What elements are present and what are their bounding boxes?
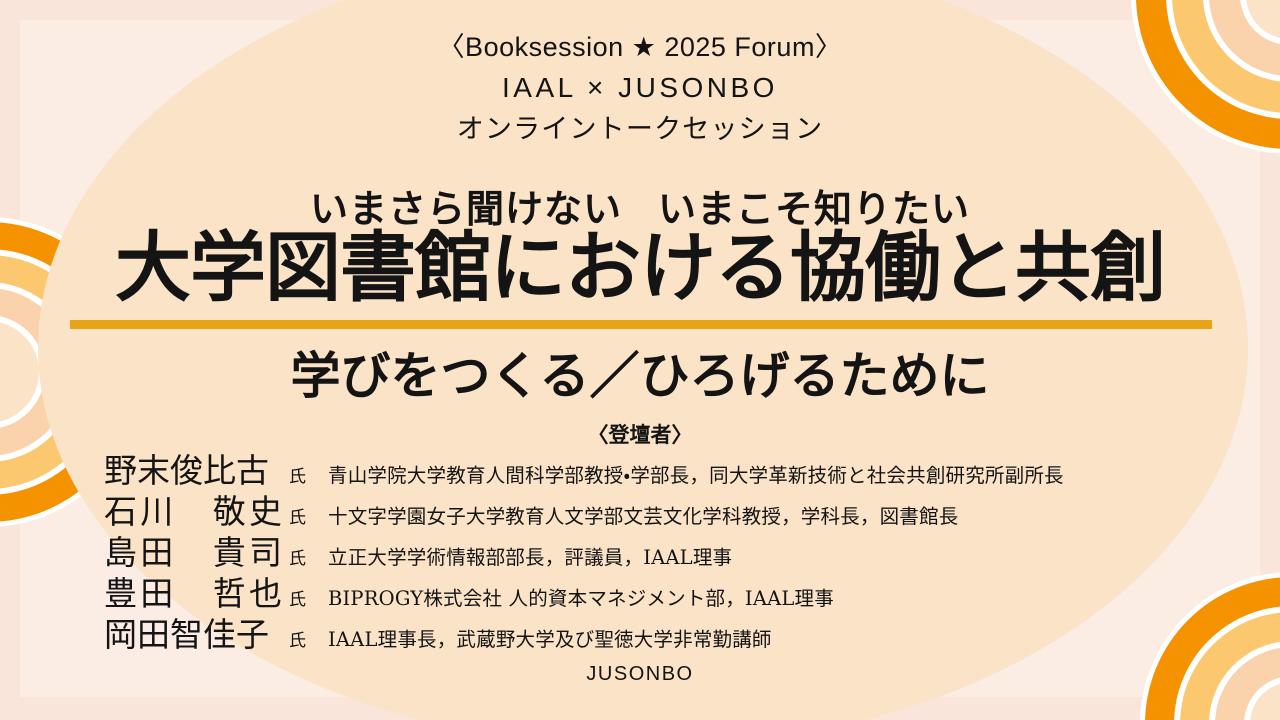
speakers-list: 野末俊比古 氏 青山学院大学教育人間科学部教授・学部長，同大学革新技術と社会共創… xyxy=(0,444,1280,649)
organizers-title: IAAL × JUSONBO xyxy=(0,67,1280,109)
speaker-affiliation: 立正大学学術情報部部長，評議員，IAAL理事 xyxy=(313,541,732,570)
slide-content: 〈Booksession ★ 2025 Forum〉 IAAL × JUSONB… xyxy=(0,0,1280,720)
footer-brand: JUSONBO xyxy=(0,663,1280,686)
speaker-honorific: 氏 xyxy=(282,585,313,610)
title-underline-rule xyxy=(70,320,1212,329)
speaker-row: 島田 貴司 氏 立正大学学術情報部部長，評議員，IAAL理事 xyxy=(0,526,1280,567)
speaker-row: 豊田 哲也 氏 BIPROGY株式会社 人的資本マネジメント部，IAAL理事 xyxy=(0,567,1280,608)
header-block: 〈Booksession ★ 2025 Forum〉 IAAL × JUSONB… xyxy=(0,28,1280,150)
speaker-name: 岡田智佳子 xyxy=(104,608,282,656)
presentation-slide: 〈Booksession ★ 2025 Forum〉 IAAL × JUSONB… xyxy=(0,0,1280,720)
speaker-affiliation: 十文字学園女子大学教育人文学部文芸文化学科教授，学科長，図書館長 xyxy=(313,500,958,529)
speaker-affiliation: 青山学院大学教育人間科学部教授・学部長，同大学革新技術と社会共創研究所副所長 xyxy=(313,459,1064,488)
session-format: オンライントークセッション xyxy=(0,109,1280,150)
speaker-honorific: 氏 xyxy=(282,626,313,651)
speaker-row: 野末俊比古 氏 青山学院大学教育人間科学部教授・学部長，同大学革新技術と社会共創… xyxy=(0,444,1280,485)
subtitle: 学びをつくる／ひろげるために xyxy=(0,336,1280,408)
series-title: 〈Booksession ★ 2025 Forum〉 xyxy=(0,28,1280,67)
speaker-affiliation: BIPROGY株式会社 人的資本マネジメント部，IAAL理事 xyxy=(313,582,834,611)
speaker-affiliation: IAAL理事長，武蔵野大学及び聖徳大学非常勤講師 xyxy=(313,623,772,652)
speaker-honorific: 氏 xyxy=(282,503,313,528)
speaker-row: 石川 敬史 氏 十文字学園女子大学教育人文学部文芸文化学科教授，学科長，図書館長 xyxy=(0,485,1280,526)
speaker-row: 岡田智佳子 氏 IAAL理事長，武蔵野大学及び聖徳大学非常勤講師 xyxy=(0,608,1280,649)
main-title: 大学図書館における協働と共創 xyxy=(0,228,1280,308)
speaker-honorific: 氏 xyxy=(282,462,313,487)
speaker-honorific: 氏 xyxy=(282,544,313,569)
